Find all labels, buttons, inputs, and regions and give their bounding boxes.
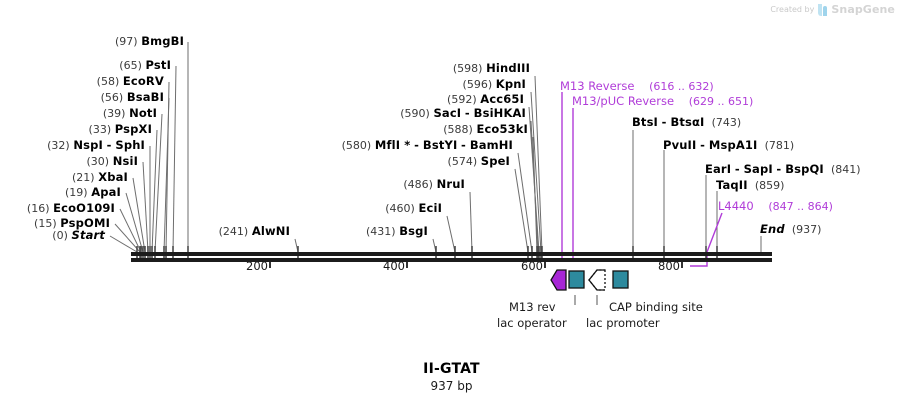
enzyme-position: (431)	[366, 225, 396, 238]
enzyme-label[interactable]: (598) HindIII	[410, 62, 530, 75]
enzyme-label[interactable]: (431) BsgI	[330, 225, 428, 238]
feature-caption-connectors	[575, 295, 597, 305]
enzyme-name: MspA1I	[709, 138, 758, 152]
enzyme-position: (19)	[65, 186, 88, 199]
enzyme-label[interactable]: (21) XbaI	[0, 171, 128, 184]
enzyme-position: (39)	[103, 107, 126, 120]
map-feature-glyphs	[551, 270, 628, 290]
primer-name: M13/pUC Reverse	[572, 94, 674, 108]
feature-m13-rev[interactable]	[551, 270, 566, 290]
feature-cap-binding-site[interactable]	[613, 271, 628, 288]
enzyme-position: (16)	[27, 202, 50, 215]
enzyme-label[interactable]: TaqII (859)	[716, 179, 784, 192]
enzyme-label[interactable]: (486) NruI	[360, 178, 465, 191]
primer-range: (616 .. 632)	[649, 80, 714, 93]
enzyme-name: XbaI	[98, 170, 128, 184]
enzyme-label[interactable]: (58) EcoRV	[0, 75, 164, 88]
enzyme-position: (486)	[403, 178, 433, 191]
enzyme-name: BspQI	[785, 162, 824, 176]
start-position: (0)	[52, 229, 68, 242]
enzyme-name: EarI	[705, 162, 731, 176]
enzyme-name: Acc65I	[480, 92, 524, 106]
enzyme-name: KpnI	[496, 77, 526, 91]
enzyme-name: BamHI	[470, 138, 513, 152]
enzyme-name: PstI	[146, 58, 171, 72]
enzyme-name: NruI	[437, 177, 465, 191]
enzyme-name: ApaI	[91, 185, 121, 199]
enzyme-label[interactable]: (16) EcoO109I	[0, 202, 115, 215]
enzyme-label[interactable]: EarI - SapI - BspQI (841)	[705, 163, 861, 176]
enzyme-position: (592)	[447, 93, 477, 106]
enzyme-label[interactable]: (19) ApaI	[0, 186, 121, 199]
enzyme-name: BsaBI	[127, 90, 164, 104]
enzyme-name: BstYI	[423, 138, 457, 152]
enzyme-label[interactable]: BtsI - BtsαI (743)	[632, 116, 741, 129]
enzyme-name: BtsαI	[670, 115, 704, 129]
enzyme-position: (30)	[86, 155, 109, 168]
ruler-tick-label: 800	[622, 259, 680, 273]
enzyme-label[interactable]: (33) PspXI	[0, 123, 152, 136]
enzyme-position: (588)	[443, 123, 473, 136]
primer-label-m13-puc-reverse[interactable]: M13/pUC Reverse (629 .. 651)	[572, 95, 753, 108]
enzyme-name: BsgI	[399, 224, 428, 238]
enzyme-label[interactable]: (97) BmgBI	[0, 35, 184, 48]
enzyme-name: SapI	[744, 162, 773, 176]
enzyme-position: (743)	[712, 116, 742, 129]
enzyme-position: (590)	[400, 107, 430, 120]
enzyme-name: SphI	[115, 138, 145, 152]
enzyme-position: (58)	[97, 75, 120, 88]
primer-name: M13 Reverse	[560, 79, 634, 93]
enzyme-name: EciI	[419, 201, 443, 215]
enzyme-name: TaqII	[716, 178, 748, 192]
enzyme-name: SacI	[433, 106, 461, 120]
end-name: End	[760, 222, 785, 236]
enzyme-name: PvuII	[663, 138, 696, 152]
feature-caption-lac-operator[interactable]: lac operator	[497, 316, 567, 330]
enzyme-position: (596)	[463, 78, 493, 91]
start-label[interactable]: (0) Start	[0, 229, 105, 242]
enzyme-name: AlwNI	[252, 224, 290, 238]
enzyme-name: EcoO109I	[53, 201, 115, 215]
enzyme-position: (32)	[47, 139, 70, 152]
enzyme-label[interactable]: (39) NotI	[0, 107, 157, 120]
enzyme-label[interactable]: PvuII - MspA1I (781)	[663, 139, 794, 152]
enzyme-label[interactable]: (32) NspI - SphI	[0, 139, 145, 152]
enzyme-label[interactable]: (596) KpnI	[410, 78, 526, 91]
feature-lac-promoter[interactable]	[589, 270, 605, 290]
enzyme-position: (574)	[448, 155, 478, 168]
enzyme-label[interactable]: (56) BsaBI	[0, 91, 164, 104]
ruler-tick-label: 600	[485, 259, 543, 273]
feature-caption-m13-rev[interactable]: M13 rev	[509, 300, 556, 314]
enzyme-position: (241)	[219, 225, 249, 238]
enzyme-position: (56)	[101, 91, 124, 104]
enzyme-name: MflI *	[375, 138, 411, 152]
enzyme-name: EcoRV	[123, 74, 164, 88]
enzyme-name: BmgBI	[141, 34, 184, 48]
enzyme-name: Eco53kI	[476, 122, 528, 136]
ruler-tick-label: 200	[210, 259, 268, 273]
enzyme-position: (859)	[755, 179, 785, 192]
end-position: (937)	[792, 223, 822, 236]
enzyme-position: (580)	[342, 139, 372, 152]
primer-label-l4440[interactable]: L4440 (847 .. 864)	[718, 200, 833, 213]
enzyme-label[interactable]: (590) SacI - BsiHKAI	[360, 107, 526, 120]
enzyme-position: (65)	[119, 59, 142, 72]
enzyme-label[interactable]: (65) PstI	[0, 59, 171, 72]
enzyme-position: (97)	[115, 35, 138, 48]
enzyme-name: HindIII	[486, 61, 530, 75]
enzyme-label[interactable]: (460) EciI	[340, 202, 442, 215]
feature-lac-operator[interactable]	[569, 271, 584, 288]
start-name: Start	[72, 228, 105, 242]
primer-range: (629 .. 651)	[689, 95, 754, 108]
enzyme-label[interactable]: (30) NsiI	[0, 155, 138, 168]
enzyme-position: (21)	[72, 171, 95, 184]
enzyme-name: BsiHKAI	[474, 106, 526, 120]
enzyme-name: NspI	[73, 138, 103, 152]
ruler-tick-label: 400	[347, 259, 405, 273]
enzyme-label[interactable]: (588) Eco53kI	[400, 123, 528, 136]
primer-label-m13-reverse[interactable]: M13 Reverse (616 .. 632)	[560, 80, 714, 93]
enzyme-label[interactable]: (580) MflI * - BstYI - BamHI	[290, 139, 513, 152]
enzyme-position: (33)	[89, 123, 112, 136]
enzyme-label[interactable]: (574) SpeI	[400, 155, 510, 168]
enzyme-label[interactable]: (241) AlwNI	[150, 225, 290, 238]
enzyme-name: NotI	[129, 106, 157, 120]
enzyme-name: SpeI	[481, 154, 510, 168]
enzyme-label[interactable]: (592) Acc65I	[400, 93, 524, 106]
primer-name: L4440	[718, 199, 754, 213]
enzyme-position: (460)	[385, 202, 415, 215]
primer-range: (847 .. 864)	[768, 200, 833, 213]
enzyme-name: NsiI	[113, 154, 138, 168]
sequence-length: 937 bp	[0, 379, 903, 393]
enzyme-position: (598)	[453, 62, 483, 75]
enzyme-name: PspXI	[115, 122, 152, 136]
enzyme-position: (781)	[765, 139, 795, 152]
page-title: II-GTAT	[0, 361, 903, 377]
enzyme-position: (841)	[831, 163, 861, 176]
feature-caption-lac-promoter[interactable]: lac promoter	[586, 316, 660, 330]
feature-caption-cap-binding-site[interactable]: CAP binding site	[609, 300, 703, 314]
enzyme-name: BtsI	[632, 115, 658, 129]
end-label[interactable]: End (937)	[760, 223, 821, 236]
